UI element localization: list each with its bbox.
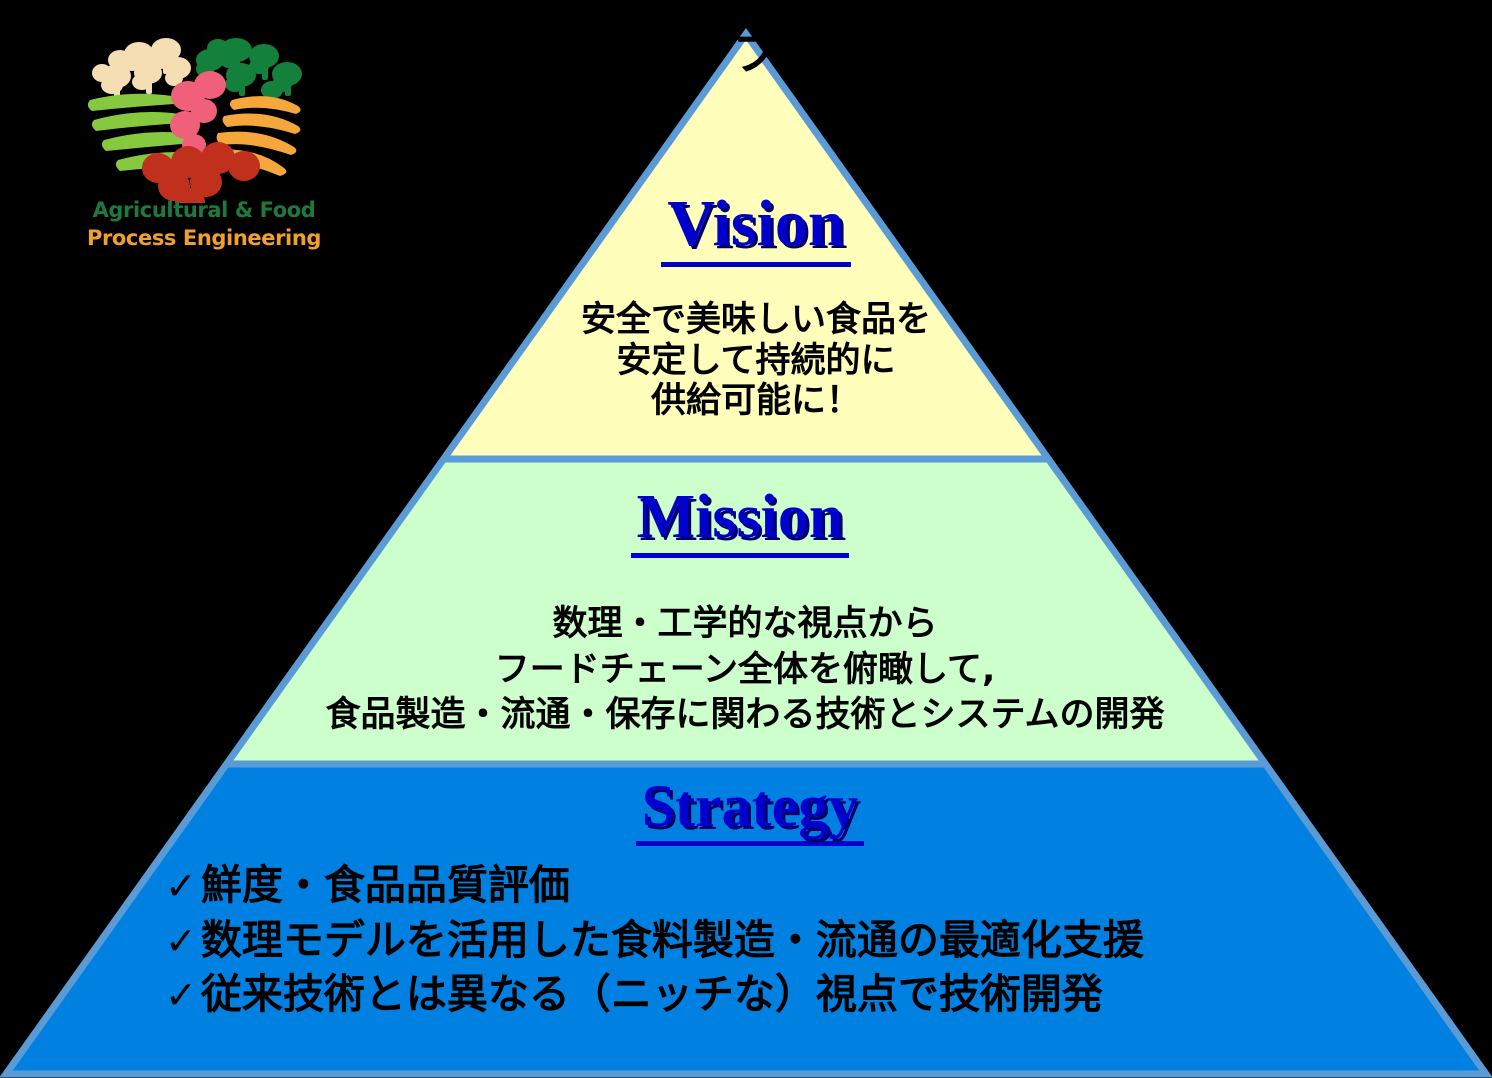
vegetable-heart-icon — [84, 28, 324, 203]
strategy-heading-text: Strategy — [636, 773, 865, 846]
strategy-list-item-label: 従来技術とは異なる（ニッチな）視点で技術開発 — [201, 970, 1103, 1018]
logo-title-line-2: Process Engineering — [84, 226, 324, 250]
mission-heading-text: Mission — [631, 483, 850, 558]
mission-heading: Mission — [390, 482, 1090, 553]
mission-body-text: 数理・工学的な視点から フードチェーン全体を俯瞰して, 食品製造・流通・保存に関… — [160, 602, 1330, 739]
slide-canvas: ブ — [0, 0, 1492, 1078]
vision-heading-text: Vision — [661, 187, 850, 267]
strategy-bullet-list: ✓鮮度・食品品質評価 ✓数理モデルを活用した食料製造・流通の最適化支援 ✓従来技… — [165, 858, 1395, 1022]
strategy-heading: Strategy — [390, 772, 1110, 841]
logo: Agricultural & Food Process Engineering — [84, 28, 324, 258]
strategy-list-item-label: 数理モデルを活用した食料製造・流通の最適化支援 — [201, 916, 1144, 964]
vision-body-text: 安全で美味しい食品を 安定して持続的に 供給可能に！ — [496, 300, 1016, 422]
strategy-list-item: ✓従来技術とは異なる（ニッチな）視点で技術開発 — [165, 967, 1395, 1022]
check-icon: ✓ — [165, 973, 197, 1017]
check-icon: ✓ — [165, 919, 197, 963]
check-icon: ✓ — [165, 864, 197, 908]
strategy-list-item-label: 鮮度・食品品質評価 — [201, 861, 570, 909]
vision-heading: Vision — [496, 186, 1016, 262]
strategy-list-item: ✓鮮度・食品品質評価 — [165, 858, 1395, 913]
apex-stray-glyph: ブ — [731, 30, 781, 76]
logo-title-line-1: Agricultural & Food — [84, 198, 324, 222]
strategy-list-item: ✓数理モデルを活用した食料製造・流通の最適化支援 — [165, 913, 1395, 968]
